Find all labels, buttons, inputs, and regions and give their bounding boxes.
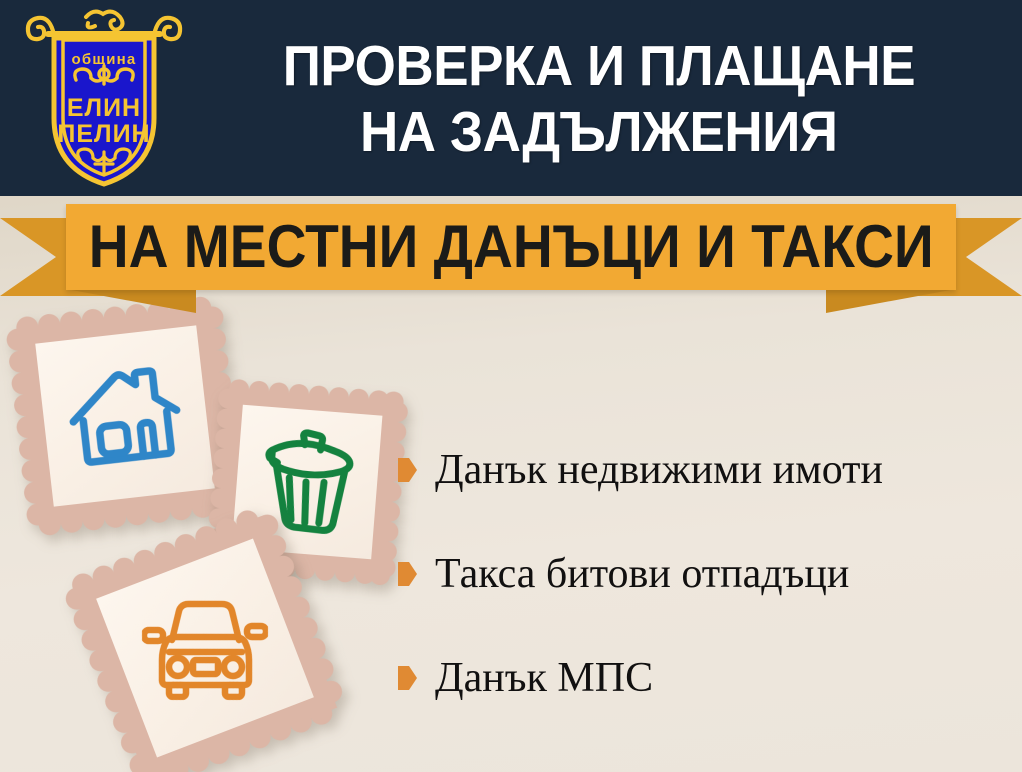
tax-type-list: Данък недвижими имоти Такса битови отпад… (398, 418, 1012, 730)
coat-of-arms-shield-icon: община ЕЛИН ПЕЛИН (24, 8, 184, 190)
car-front-icon (121, 563, 289, 733)
page-title-line-1: ПРОВЕРКА И ПЛАЩАНЕ (283, 34, 915, 100)
list-item[interactable]: Данък МПС (398, 626, 1012, 730)
arrow-bullet-icon (398, 458, 417, 482)
arrow-bullet-icon (398, 562, 417, 586)
list-item-label: Данък недвижими имоти (435, 448, 883, 492)
poster-canvas: община ЕЛИН ПЕЛИН ПРОВЕРКА И ПЛАЩ (0, 0, 1022, 772)
ribbon-label: НА МЕСТНИ ДАНЪЦИ И ТАКСИ (89, 217, 934, 277)
list-item[interactable]: Такса битови отпадъци (398, 522, 1012, 626)
arrow-bullet-icon (398, 666, 417, 690)
list-item-label: Данък МПС (435, 656, 653, 700)
svg-text:ПЕЛИН: ПЕЛИН (57, 120, 150, 148)
subtitle-ribbon: НА МЕСТНИ ДАНЪЦИ И ТАКСИ (0, 196, 1022, 312)
list-item[interactable]: Данък недвижими имоти (398, 418, 1012, 522)
municipality-logo: община ЕЛИН ПЕЛИН (24, 8, 184, 190)
ribbon-band: НА МЕСТНИ ДАНЪЦИ И ТАКСИ (66, 204, 956, 290)
svg-text:ЕЛИН: ЕЛИН (67, 94, 141, 122)
page-title: ПРОВЕРКА И ПЛАЩАНЕ НА ЗАДЪЛЖЕНИЯ (186, 14, 1012, 186)
page-title-line-2: НА ЗАДЪЛЖЕНИЯ (360, 100, 838, 166)
house-icon (35, 325, 215, 506)
list-item-label: Такса битови отпадъци (435, 552, 849, 596)
